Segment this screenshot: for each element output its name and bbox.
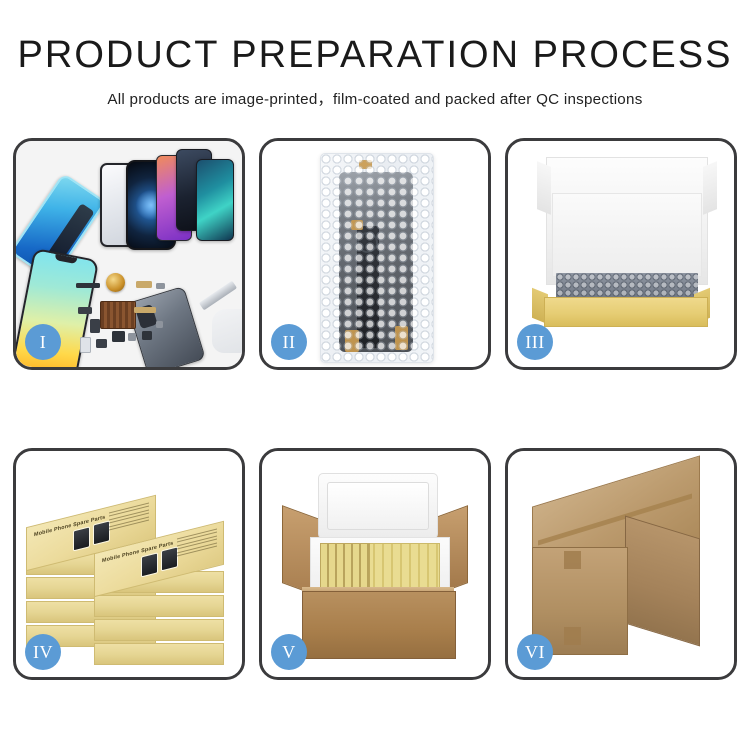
page-title: PRODUCT PREPARATION PROCESS bbox=[0, 36, 750, 76]
speaker-coil-icon bbox=[106, 273, 125, 292]
part-chip-icon bbox=[156, 283, 165, 289]
page-subtitle: All products are image-printed，film-coat… bbox=[0, 87, 750, 109]
carton-flap-tab-bottom-icon bbox=[564, 627, 581, 645]
carton-body-icon bbox=[302, 591, 456, 659]
carton-flap-tab-top-icon bbox=[564, 551, 581, 569]
packed-boxes-edge-icon bbox=[320, 543, 370, 593]
box-speclines-right bbox=[177, 529, 217, 563]
process-step-3[interactable]: III bbox=[505, 138, 737, 370]
foam-sheet-icon bbox=[552, 193, 702, 277]
box-thumb-left-b bbox=[93, 520, 110, 545]
process-step-5[interactable]: V bbox=[259, 448, 491, 680]
box-thumb-right-a bbox=[141, 552, 158, 577]
wrapped-camera-ring-icon bbox=[357, 232, 378, 253]
step-badge-4: IV bbox=[25, 634, 61, 670]
page-header: PRODUCT PREPARATION PROCESS All products… bbox=[0, 0, 750, 109]
part-module-icon bbox=[90, 319, 100, 333]
part-shield-icon bbox=[142, 331, 152, 340]
part-button-icon bbox=[96, 339, 107, 348]
part-connector-icon bbox=[78, 307, 92, 314]
step-badge-2: II bbox=[271, 324, 307, 360]
process-step-4[interactable]: Mobile Phone Spare Parts Mobile Phone Sp… bbox=[13, 448, 245, 680]
carton-side-face-icon bbox=[625, 516, 700, 647]
tape-piece-bottom-left-icon bbox=[345, 330, 359, 352]
part-sim-tray-icon bbox=[80, 337, 91, 353]
process-steps-grid: I II III bbox=[13, 138, 737, 680]
part-screw-plate-icon bbox=[128, 333, 136, 341]
technician-hand-icon bbox=[212, 309, 242, 353]
part-flex-cable-icon bbox=[134, 307, 156, 313]
box-thumb-left-a bbox=[73, 526, 90, 551]
step-badge-3: III bbox=[517, 324, 553, 360]
stacked-box-right-5 bbox=[94, 643, 224, 665]
step-badge-1: I bbox=[25, 324, 61, 360]
stacked-box-right-3 bbox=[94, 595, 224, 617]
tweezers-icon bbox=[199, 281, 237, 311]
process-step-1[interactable]: I bbox=[13, 138, 245, 370]
process-step-6[interactable]: VI bbox=[505, 448, 737, 680]
part-camera-icon bbox=[112, 331, 125, 342]
tape-piece-top-icon bbox=[359, 160, 372, 169]
styrofoam-lid-icon bbox=[318, 473, 438, 539]
tape-piece-bottom-right-icon bbox=[395, 326, 408, 350]
kraft-box-front-icon bbox=[544, 297, 708, 327]
box-speclines-left bbox=[109, 503, 149, 537]
process-step-2[interactable]: II bbox=[259, 138, 491, 370]
phone-back-housing-icon bbox=[126, 286, 206, 367]
part-strip-icon bbox=[76, 283, 100, 288]
tape-piece-mid-icon bbox=[351, 220, 363, 230]
grey-bubble-wrap-icon bbox=[556, 273, 698, 299]
step-badge-6: VI bbox=[517, 634, 553, 670]
step-badge-5: V bbox=[271, 634, 307, 670]
logic-board-icon bbox=[100, 301, 136, 329]
stacked-box-right-4 bbox=[94, 619, 224, 641]
part-bracket-icon bbox=[136, 281, 152, 288]
phone-teal-wave-icon bbox=[196, 159, 234, 241]
box-thumb-right-b bbox=[161, 546, 178, 571]
part-small-chip-icon bbox=[156, 321, 163, 328]
bubble-wrap-bag-icon bbox=[320, 153, 434, 363]
